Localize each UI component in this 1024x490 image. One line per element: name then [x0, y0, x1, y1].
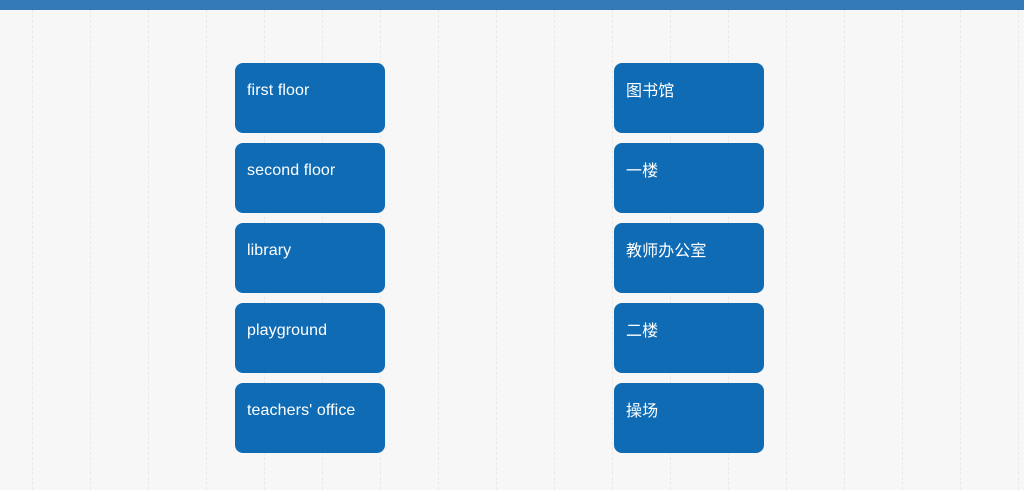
card-first-floor[interactable]: first floor — [235, 63, 385, 133]
card-label: 教师办公室 — [626, 241, 752, 261]
card-label: first floor — [247, 81, 373, 101]
chinese-terms-column: 图书馆 一楼 教师办公室 二楼 操场 — [614, 63, 764, 453]
card-label: 一楼 — [626, 161, 752, 181]
card-label: playground — [247, 321, 373, 341]
card-second-floor[interactable]: second floor — [235, 143, 385, 213]
card-label: 二楼 — [626, 321, 752, 341]
card-library[interactable]: library — [235, 223, 385, 293]
card-label: library — [247, 241, 373, 261]
card-label: 操场 — [626, 401, 752, 421]
matching-stage: first floor second floor library playgro… — [0, 10, 1024, 490]
top-accent-bar — [0, 0, 1024, 10]
card-erlou[interactable]: 二楼 — [614, 303, 764, 373]
card-label: 图书馆 — [626, 81, 752, 101]
english-terms-column: first floor second floor library playgro… — [235, 63, 385, 453]
card-jiaoshibangongshi[interactable]: 教师办公室 — [614, 223, 764, 293]
card-tushuguan[interactable]: 图书馆 — [614, 63, 764, 133]
card-yilou[interactable]: 一楼 — [614, 143, 764, 213]
card-label: second floor — [247, 161, 373, 181]
card-label: teachers' office — [247, 401, 373, 421]
card-teachers-office[interactable]: teachers' office — [235, 383, 385, 453]
card-caochang[interactable]: 操场 — [614, 383, 764, 453]
card-playground[interactable]: playground — [235, 303, 385, 373]
